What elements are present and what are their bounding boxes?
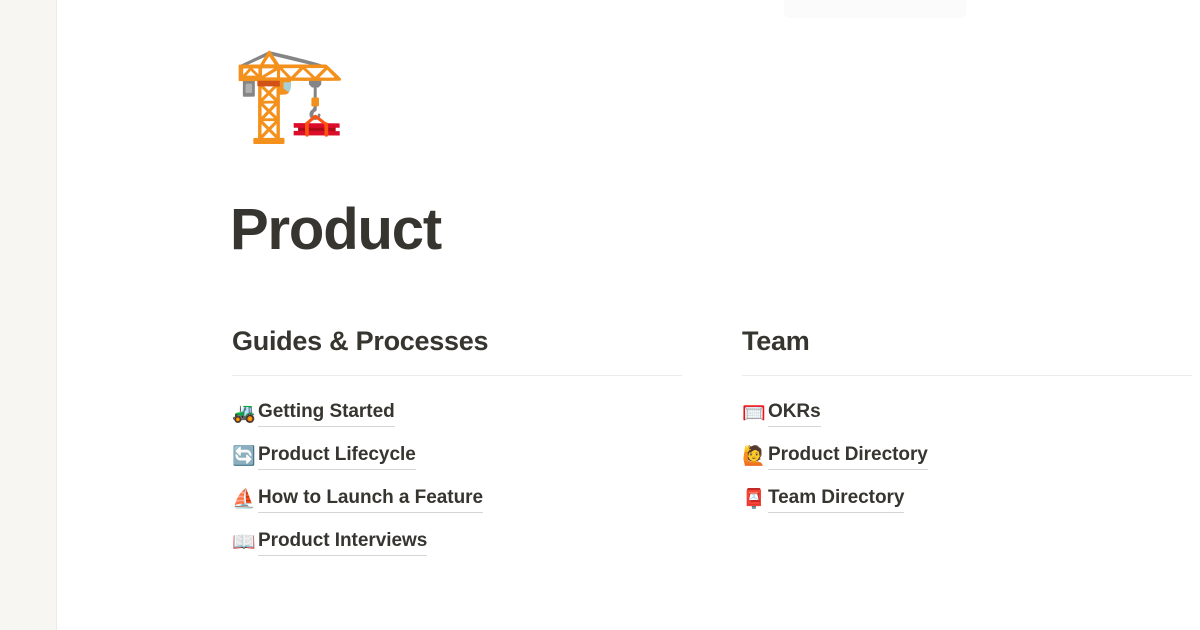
list-item[interactable]: 🔄 Product Lifecycle: [232, 435, 682, 478]
open-book-emoji: 📖: [232, 533, 258, 552]
postbox-emoji: 📮: [742, 490, 768, 509]
goal-net-emoji: 🥅: [742, 404, 768, 423]
link-list-guides-and-processes: 🚜 Getting Started 🔄 Product Lifecycle ⛵ …: [232, 392, 682, 564]
list-item[interactable]: 📮 Team Directory: [742, 478, 1192, 521]
left-sidebar-strip[interactable]: [0, 0, 57, 630]
section-heading-guides-and-processes: Guides & Processes: [232, 325, 682, 359]
column-guides-and-processes: Guides & Processes 🚜 Getting Started 🔄 P…: [232, 325, 682, 564]
sailboat-emoji: ⛵: [232, 490, 258, 509]
page-link-getting-started[interactable]: Getting Started: [258, 400, 395, 427]
column-list: Guides & Processes 🚜 Getting Started 🔄 P…: [232, 325, 1192, 564]
list-item[interactable]: 🚜 Getting Started: [232, 392, 682, 435]
list-item[interactable]: 🙋 Product Directory: [742, 435, 1192, 478]
list-item[interactable]: 📖 Product Interviews: [232, 521, 682, 564]
list-item[interactable]: ⛵ How to Launch a Feature: [232, 478, 682, 521]
page-link-product-lifecycle[interactable]: Product Lifecycle: [258, 443, 416, 470]
tractor-emoji: 🚜: [232, 404, 258, 423]
page-icon[interactable]: 🏗️: [232, 48, 347, 140]
person-raising-hand-emoji: 🙋: [742, 447, 768, 466]
page-link-how-to-launch-a-feature[interactable]: How to Launch a Feature: [258, 486, 483, 513]
clipped-toolbar-chip[interactable]: [784, 0, 966, 18]
page-content-area: 🏗️ Product Guides & Processes 🚜 Getting …: [57, 0, 1200, 630]
section-divider: [742, 375, 1192, 376]
page-link-okrs[interactable]: OKRs: [768, 400, 821, 427]
counterclockwise-arrows-emoji: 🔄: [232, 447, 258, 466]
list-item[interactable]: 🥅 OKRs: [742, 392, 1192, 435]
column-team: Team 🥅 OKRs 🙋 Product Directory 📮: [742, 325, 1192, 564]
page-link-team-directory[interactable]: Team Directory: [768, 486, 904, 513]
app-root: 🏗️ Product Guides & Processes 🚜 Getting …: [0, 0, 1200, 630]
link-list-team: 🥅 OKRs 🙋 Product Directory 📮 Team Direct…: [742, 392, 1192, 521]
page-title: Product: [230, 198, 441, 262]
page-link-product-interviews[interactable]: Product Interviews: [258, 529, 427, 556]
page-link-product-directory[interactable]: Product Directory: [768, 443, 928, 470]
section-divider: [232, 375, 682, 376]
section-heading-team: Team: [742, 325, 1192, 359]
